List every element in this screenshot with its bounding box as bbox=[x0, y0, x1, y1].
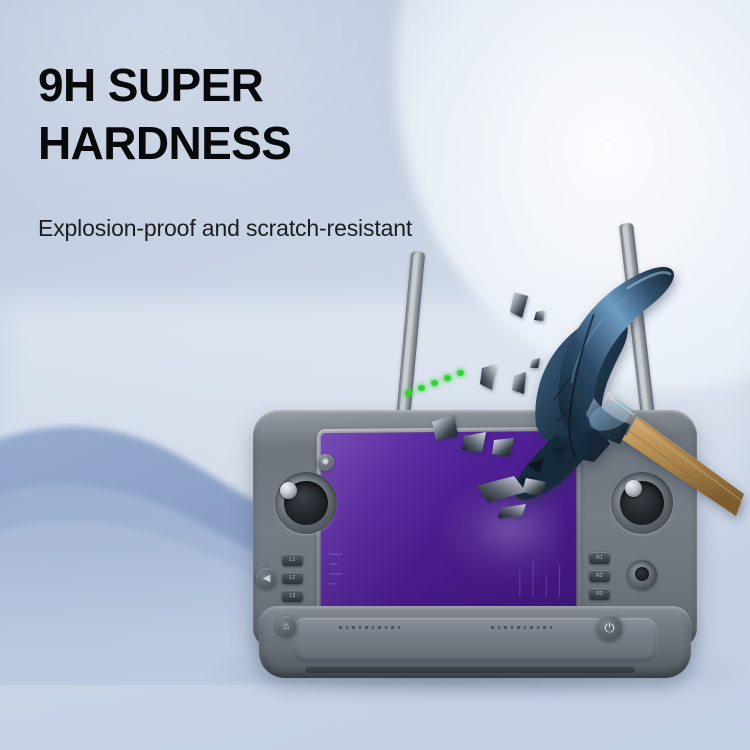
glass-shards bbox=[430, 290, 660, 520]
left-joystick-knob[interactable] bbox=[280, 482, 297, 499]
speaker-grille-right bbox=[491, 626, 552, 629]
button-l3[interactable]: L3 bbox=[282, 590, 303, 602]
return-home-button[interactable]: ⌂ bbox=[276, 616, 297, 637]
power-icon: ⏻ bbox=[604, 621, 614, 634]
back-arrow-icon: ◀ bbox=[263, 574, 271, 584]
screen-ui-ticks bbox=[329, 554, 349, 610]
led-dot bbox=[405, 390, 412, 396]
speaker-grille-left bbox=[339, 626, 400, 629]
top-function-button-glyph: ✸ bbox=[321, 458, 329, 468]
headline-block: 9H SUPER HARDNESS Explosion-proof and sc… bbox=[38, 56, 558, 242]
power-button[interactable]: ⏻ bbox=[596, 614, 623, 641]
controller-grip bbox=[259, 606, 691, 678]
back-button[interactable]: ◀ bbox=[256, 568, 277, 589]
left-joystick[interactable] bbox=[275, 472, 337, 534]
button-l2[interactable]: L2 bbox=[282, 572, 303, 584]
home-icon: ⌂ bbox=[283, 622, 289, 632]
led-dot bbox=[418, 385, 425, 391]
subheadline: Explosion-proof and scratch-resistant bbox=[38, 215, 558, 242]
headline-line-1: 9H SUPER bbox=[38, 56, 558, 114]
button-l1[interactable]: L1 bbox=[282, 554, 303, 566]
button-r3[interactable]: R3 bbox=[589, 588, 610, 600]
promo-banner: 9H SUPER HARDNESS Explosion-proof and sc… bbox=[0, 0, 750, 750]
top-function-button[interactable]: ✸ bbox=[317, 454, 334, 471]
grip-bottom-slot bbox=[305, 667, 635, 673]
scroll-dial[interactable] bbox=[627, 560, 657, 590]
headline-line-2: HARDNESS bbox=[38, 114, 558, 172]
button-r2[interactable]: R2 bbox=[589, 570, 610, 582]
